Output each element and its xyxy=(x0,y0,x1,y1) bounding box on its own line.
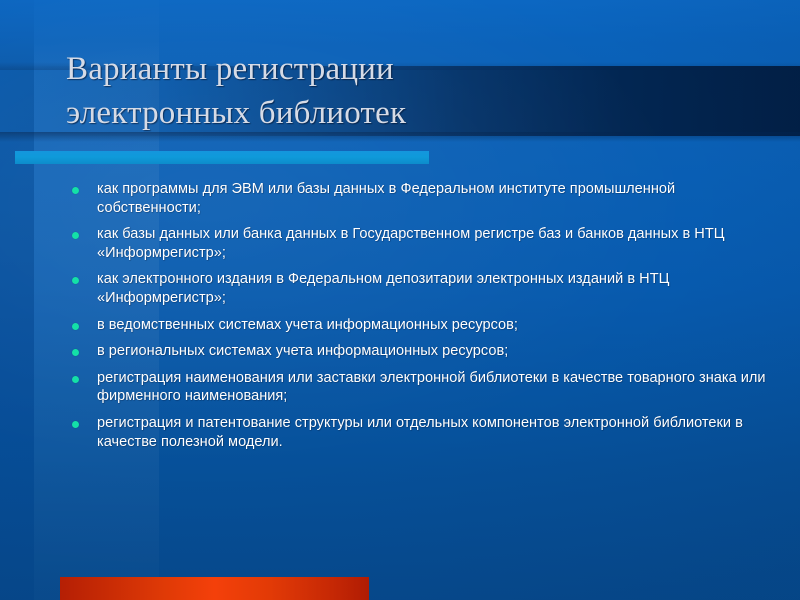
list-item: регистрация и патентование структуры или… xyxy=(66,414,772,451)
list-item: как электронного издания в Федеральном д… xyxy=(66,270,772,307)
list-item-text: как электронного издания в Федеральном д… xyxy=(97,271,669,306)
bullet-dot-icon xyxy=(72,232,79,239)
title-accent-bar xyxy=(15,151,429,164)
list-item: как программы для ЭВМ или базы данных в … xyxy=(66,180,772,217)
bullet-dot-icon xyxy=(72,323,79,330)
list-item-text: регистрация и патентование структуры или… xyxy=(97,415,743,450)
list-item-text: регистрация наименования или заставки эл… xyxy=(97,370,766,405)
list-item: в региональных системах учета информацио… xyxy=(66,342,772,361)
list-item: в ведомственных системах учета информаци… xyxy=(66,316,772,335)
list-item-text: в ведомственных системах учета информаци… xyxy=(97,317,518,333)
bullet-dot-icon xyxy=(72,277,79,284)
bullet-list: как программы для ЭВМ или базы данных в … xyxy=(66,180,772,459)
bullet-dot-icon xyxy=(72,349,79,356)
list-item-text: в региональных системах учета информацио… xyxy=(97,343,508,359)
presentation-slide: Варианты регистрации электронных библиот… xyxy=(0,0,800,600)
bullet-dot-icon xyxy=(72,376,79,383)
list-item: как базы данных или банка данных в Госуд… xyxy=(66,225,772,262)
bullet-dot-icon xyxy=(72,187,79,194)
list-item: регистрация наименования или заставки эл… xyxy=(66,369,772,406)
list-item-text: как программы для ЭВМ или базы данных в … xyxy=(97,181,675,216)
slide-title: Варианты регистрации электронных библиот… xyxy=(66,47,716,135)
footer-accent-bar xyxy=(60,577,369,600)
list-item-text: как базы данных или банка данных в Госуд… xyxy=(97,226,725,261)
bullet-dot-icon xyxy=(72,421,79,428)
